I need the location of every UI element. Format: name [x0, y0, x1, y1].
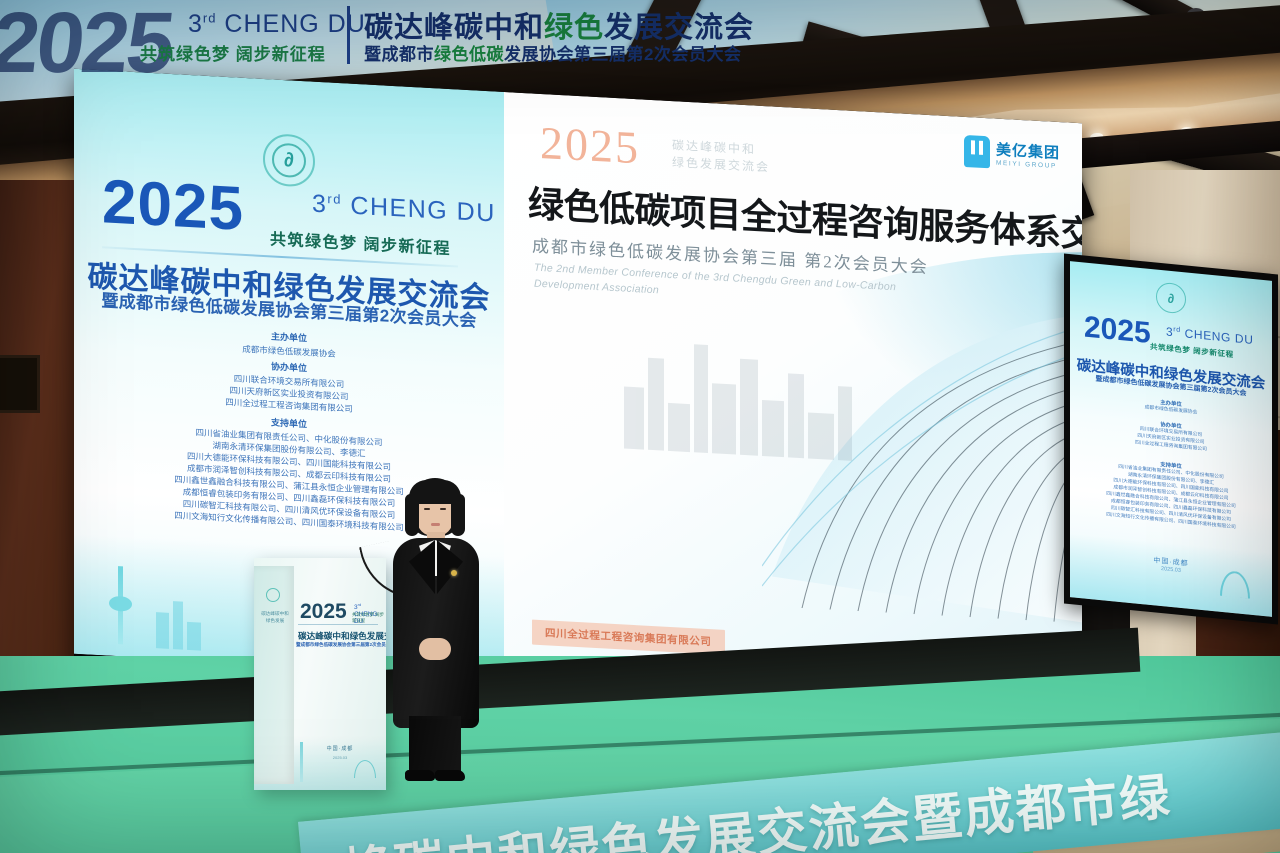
meiyi-logo-mark-icon — [964, 135, 990, 168]
right-section-supporters: 支持单位 四川省油业集团有限责任公司、中化股份有限公司 湖南永清环保集团股份有限… — [1070, 451, 1272, 535]
right-poster-city: CHENG DU — [1185, 326, 1254, 347]
podium-slogan: 共筑绿色梦 阔步新征程 — [352, 612, 386, 624]
podium-title: 碳达峰碳中和绿色发展交流会 — [298, 630, 382, 642]
speaker-eye-right — [440, 508, 446, 510]
podium-emblem-icon — [266, 588, 280, 602]
speaker-person — [383, 478, 487, 788]
meiyi-logo-text: 美亿集团 MEIYI GROUP — [996, 139, 1060, 170]
poster-year: 2025 — [102, 166, 244, 245]
podium-side-text: 碳达峰碳中和 绿色发展 — [257, 610, 293, 624]
building-shape — [156, 612, 169, 649]
speaker-mouth — [431, 523, 440, 526]
podium-edition-sup: rd — [358, 602, 362, 607]
podium-side-line1: 碳达峰碳中和 — [257, 610, 293, 617]
speaker-legs — [409, 716, 461, 778]
speaker-eye-left — [424, 508, 430, 510]
slide-city-silhouette — [624, 298, 984, 467]
led-screen-area: ∂ 2025 3rd CHENG DU 共筑绿色梦 阔步新征程 碳达峰碳中和绿色… — [74, 69, 1082, 709]
podium-divider — [298, 624, 378, 625]
speaker-hair-left — [405, 494, 419, 536]
poster-edition-city: 3rd CHENG DU — [312, 190, 496, 229]
right-poster-year: 2025 — [1084, 310, 1151, 351]
building-shape — [173, 601, 183, 650]
right-display-content: ∂ 2025 3rd CHENG DU 共筑绿色梦 阔步新征程 碳达峰碳中和绿色… — [1070, 261, 1272, 617]
speaker-hands — [419, 638, 451, 660]
slide-year-caption: 碳达峰碳中和 绿色发展交流会 — [672, 137, 770, 176]
podium-tower-icon — [300, 742, 303, 782]
slide-year: 2025 — [540, 116, 640, 174]
emblem-glyph: ∂ — [272, 142, 306, 178]
right-poster-edition-sup: rd — [1173, 326, 1180, 334]
speaker-shoe-left — [405, 770, 435, 781]
meiyi-group-logo: 美亿集团 MEIYI GROUP — [964, 135, 1060, 172]
podium-side-line2: 绿色发展 — [257, 617, 293, 624]
association-emblem-icon: ∂ — [263, 133, 315, 188]
tv-tower-icon — [118, 566, 123, 644]
poster-edition-sup: rd — [327, 191, 342, 207]
wall-left-frame — [0, 355, 40, 413]
poster-slogan: 共筑绿色梦 阔步新征程 — [270, 225, 451, 259]
podium-subtitle: 暨成都市绿色低碳发展协会第三届第2次会员大会 — [296, 642, 384, 648]
speaker-badge-pin-icon — [451, 570, 457, 576]
poster-edition: 3 — [312, 190, 327, 219]
podium-left-face: 碳达峰碳中和 绿色发展 — [254, 566, 294, 784]
poster-city: CHENG DU — [350, 192, 495, 228]
podium-year: 2025 — [300, 600, 347, 624]
speaker-shoe-right — [435, 770, 465, 781]
conference-photo-scene: ∂ 2025 3rd CHENG DU 共筑绿色梦 阔步新征程 碳达峰碳中和绿色… — [0, 0, 1280, 853]
speaker-hair-right — [451, 494, 465, 536]
right-vertical-display: ∂ 2025 3rd CHENG DU 共筑绿色梦 阔步新征程 碳达峰碳中和绿色… — [1064, 254, 1278, 625]
screen-center-slide: 2025 碳达峰碳中和 绿色发展交流会 绿色低碳项目全过程咨询服务体系交流分享 … — [504, 92, 1082, 708]
building-shape — [187, 622, 201, 651]
association-emblem-icon: ∂ — [1156, 282, 1186, 315]
